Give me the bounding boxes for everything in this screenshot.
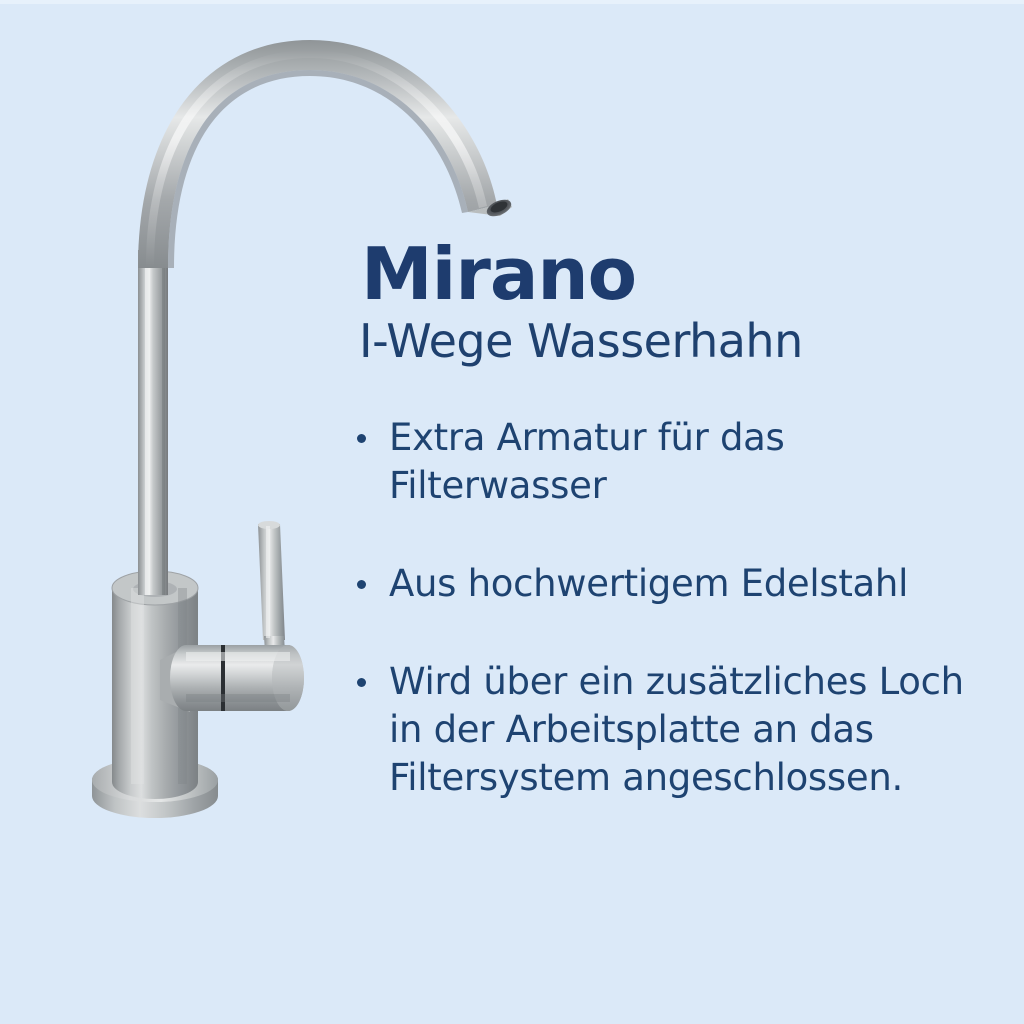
- page-title: Mirano: [361, 236, 985, 312]
- list-item: Wird über ein zusätzliches Loch in der A…: [355, 658, 985, 802]
- list-item: Aus hochwertigem Edelstahl: [355, 560, 985, 608]
- bullet-icon: [357, 580, 366, 589]
- faucet-valve-housing: [160, 645, 304, 712]
- faucet-riser-tube: [138, 250, 168, 595]
- feature-list: Extra Armatur für das Filterwasser Aus h…: [355, 414, 985, 802]
- feature-text: Aus hochwertigem Edelstahl: [389, 562, 908, 605]
- bullet-icon: [357, 434, 366, 443]
- product-subtitle: I-Wege Wasserhahn: [359, 314, 985, 368]
- feature-text: Extra Armatur für das Filterwasser: [389, 416, 785, 507]
- bullet-icon: [357, 678, 366, 687]
- product-infographic: Mirano I-Wege Wasserhahn Extra Armatur f…: [0, 0, 1024, 1024]
- list-item: Extra Armatur für das Filterwasser: [355, 414, 985, 510]
- product-text-block: Mirano I-Wege Wasserhahn Extra Armatur f…: [355, 236, 985, 802]
- feature-text: Wird über ein zusätzliches Loch in der A…: [389, 660, 964, 799]
